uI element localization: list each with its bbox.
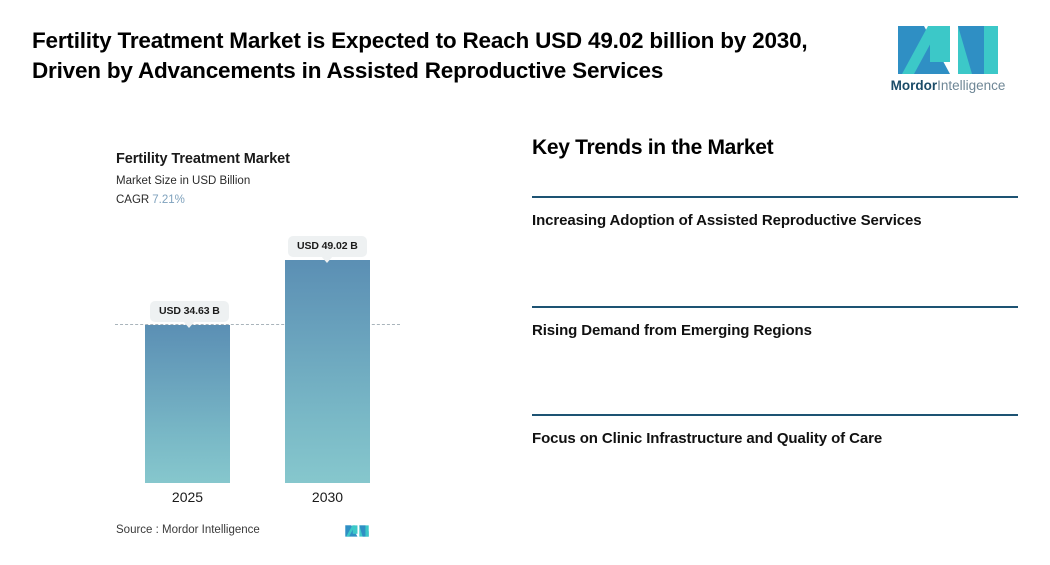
trend-divider-2 xyxy=(532,414,1018,416)
trend-item-0: Increasing Adoption of Assisted Reproduc… xyxy=(532,196,1018,231)
source-text: Source : Mordor Intelligence xyxy=(116,524,260,536)
x-axis-label-2025: 2025 xyxy=(145,489,230,505)
trend-divider-1 xyxy=(532,306,1018,308)
mordor-logo-wordmark: MordorIntelligence xyxy=(884,78,1012,93)
value-label-2030: USD 49.02 B xyxy=(288,236,367,257)
trend-divider-0 xyxy=(532,196,1018,198)
chart-source: Source : Mordor Intelligence xyxy=(116,522,386,544)
mordor-intelligence-logo: MordorIntelligence xyxy=(884,22,1012,104)
trend-item-1: Rising Demand from Emerging Regions xyxy=(532,306,1018,341)
value-label-2025: USD 34.63 B xyxy=(150,301,229,322)
logo-word-intelligence: Intelligence xyxy=(937,78,1005,93)
source-mordor-logo-icon xyxy=(342,522,372,540)
page-title: Fertility Treatment Market is Expected t… xyxy=(32,26,862,85)
key-trends-panel: Key Trends in the Market Increasing Adop… xyxy=(532,136,1018,486)
mordor-logo-mark xyxy=(884,22,1012,78)
logo-word-mordor: Mordor xyxy=(891,78,938,93)
bar-chart-plot: USD 34.63 B USD 49.02 B 2025 2030 xyxy=(0,118,500,565)
chart-panel: Fertility Treatment Market Market Size i… xyxy=(0,118,500,565)
key-trends-heading: Key Trends in the Market xyxy=(532,136,773,160)
header: Fertility Treatment Market is Expected t… xyxy=(0,0,1050,118)
bar-2030 xyxy=(285,260,370,483)
x-axis-label-2030: 2030 xyxy=(285,489,370,505)
trend-item-2: Focus on Clinic Infrastructure and Quali… xyxy=(532,414,1018,449)
trend-label-1: Rising Demand from Emerging Regions xyxy=(532,320,1002,341)
bar-2025 xyxy=(145,325,230,483)
trend-label-0: Increasing Adoption of Assisted Reproduc… xyxy=(532,210,1002,231)
trend-label-2: Focus on Clinic Infrastructure and Quali… xyxy=(532,428,1002,449)
